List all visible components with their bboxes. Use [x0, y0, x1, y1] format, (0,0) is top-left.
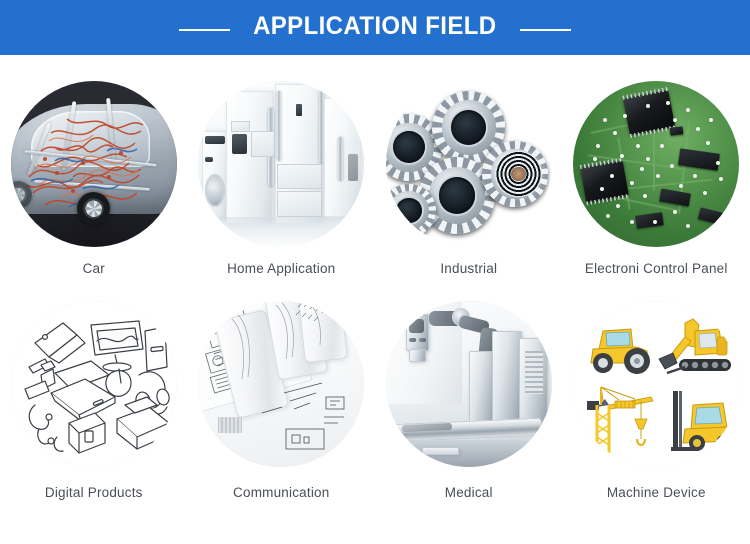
grid-row-2: Digital Products [0, 293, 750, 525]
grid-item-machine-device[interactable]: Machine Device [563, 301, 750, 525]
grid-row-1: Car [0, 55, 750, 293]
caption-home-application: Home Application [227, 261, 335, 276]
grid-item-car[interactable]: Car [0, 81, 188, 293]
grid-item-home-application[interactable]: Home Application [188, 81, 376, 293]
caption-communication: Communication [233, 485, 329, 500]
page-title: APPLICATION FIELD [253, 12, 496, 41]
grid-item-communication[interactable]: Communication [188, 301, 376, 525]
communication-thumbnail-image[interactable] [198, 301, 364, 467]
electronic-control-panel-thumbnail-image[interactable] [573, 81, 739, 247]
car-thumbnail-image[interactable] [11, 81, 177, 247]
section-header-banner: APPLICATION FIELD [0, 0, 750, 55]
application-field-page: APPLICATION FIELD [0, 0, 750, 544]
grid-item-digital-products[interactable]: Digital Products [0, 301, 188, 525]
caption-electronic-control-panel: Electroni Control Panel [585, 261, 728, 276]
grid-item-industrial[interactable]: Industrial [375, 81, 563, 293]
caption-digital-products: Digital Products [45, 485, 143, 500]
header-inner: APPLICATION FIELD [168, 12, 582, 41]
digital-products-thumbnail-image[interactable] [11, 301, 177, 467]
grid-item-medical[interactable]: Medical [375, 301, 563, 525]
machine-device-thumbnail-image[interactable] [573, 301, 739, 467]
home-application-thumbnail-image[interactable] [198, 81, 364, 247]
caption-medical: Medical [445, 485, 493, 500]
caption-car: Car [83, 261, 105, 276]
caption-machine-device: Machine Device [607, 485, 706, 500]
medical-thumbnail-image[interactable] [386, 301, 552, 467]
application-field-grid: Car [0, 55, 750, 544]
header-decoration-left-icon [168, 22, 230, 31]
caption-industrial: Industrial [440, 261, 497, 276]
industrial-thumbnail-image[interactable] [386, 81, 552, 247]
grid-item-electronic-control-panel[interactable]: Electroni Control Panel [563, 81, 750, 293]
header-decoration-right-icon [520, 22, 582, 31]
